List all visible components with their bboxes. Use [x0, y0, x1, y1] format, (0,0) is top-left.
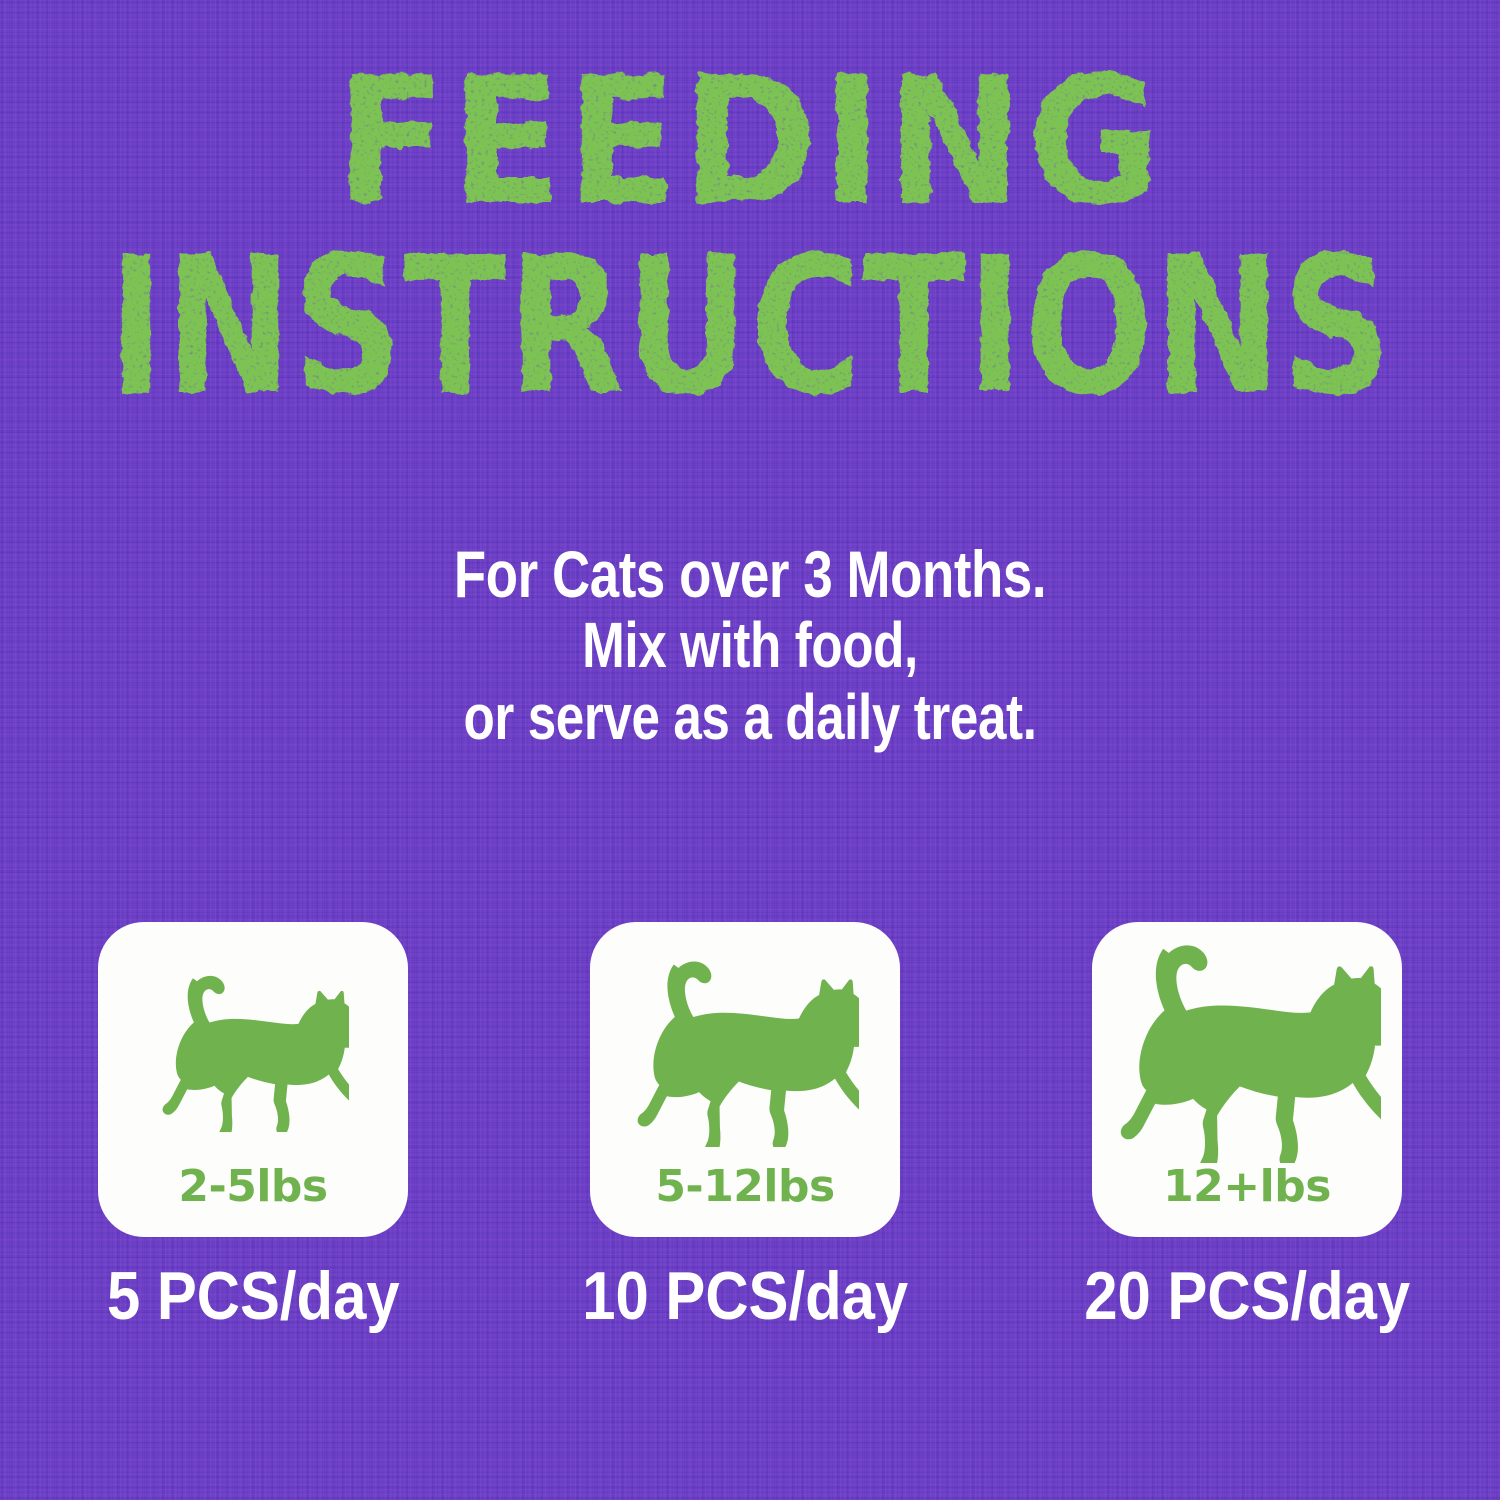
dosage-card-group: 2-5lbs 5 PCS/day 5-12lbs 10 PCS/day: [0, 922, 1500, 1402]
dosage-column-medium: 5-12lbs 10 PCS/day: [590, 922, 900, 1237]
instruction-line-2: Mix with food,: [150, 610, 1350, 682]
dosage-card[interactable]: 5-12lbs: [590, 922, 900, 1237]
dosage-column-small: 2-5lbs 5 PCS/day: [98, 922, 408, 1237]
cat-walking-icon: [590, 964, 900, 1139]
weight-range-label: 12+lbs: [1092, 1165, 1402, 1209]
title-line-1-wrap: FEEDING: [0, 62, 1500, 232]
cat-walking-icon: [1092, 964, 1402, 1139]
instruction-line-1: For Cats over 3 Months.: [150, 540, 1350, 610]
page-title: FEEDING INSTRUCTIONS: [0, 62, 1500, 422]
instruction-line-3: or serve as a daily treat.: [150, 682, 1350, 754]
dosage-card[interactable]: 12+lbs: [1092, 922, 1402, 1237]
feeding-instructions-panel: FEEDING INSTRUCTIONS For Cats over: [0, 0, 1500, 1500]
dosage-amount-text: 10 PCS/day: [582, 1262, 908, 1330]
weight-range-label: 5-12lbs: [590, 1165, 900, 1209]
dosage-amount-text: 5 PCS/day: [107, 1262, 400, 1330]
dosage-amount-label: 10 PCS/day: [546, 1262, 944, 1330]
dosage-card[interactable]: 2-5lbs: [98, 922, 408, 1237]
dosage-amount-text: 20 PCS/day: [1084, 1262, 1410, 1330]
weight-range-label: 2-5lbs: [98, 1165, 408, 1209]
cat-walking-icon: [98, 964, 408, 1139]
instructions-text: For Cats over 3 Months. Mix with food, o…: [0, 540, 1500, 753]
title-line-1-text: FEEDING: [335, 62, 1165, 232]
title-line-2-wrap: INSTRUCTIONS: [0, 232, 1500, 422]
title-line-2-text: INSTRUCTIONS: [108, 232, 1393, 422]
dosage-amount-label: 20 PCS/day: [1048, 1262, 1446, 1330]
dosage-amount-label: 5 PCS/day: [54, 1262, 452, 1330]
dosage-column-large: 12+lbs 20 PCS/day: [1092, 922, 1402, 1237]
